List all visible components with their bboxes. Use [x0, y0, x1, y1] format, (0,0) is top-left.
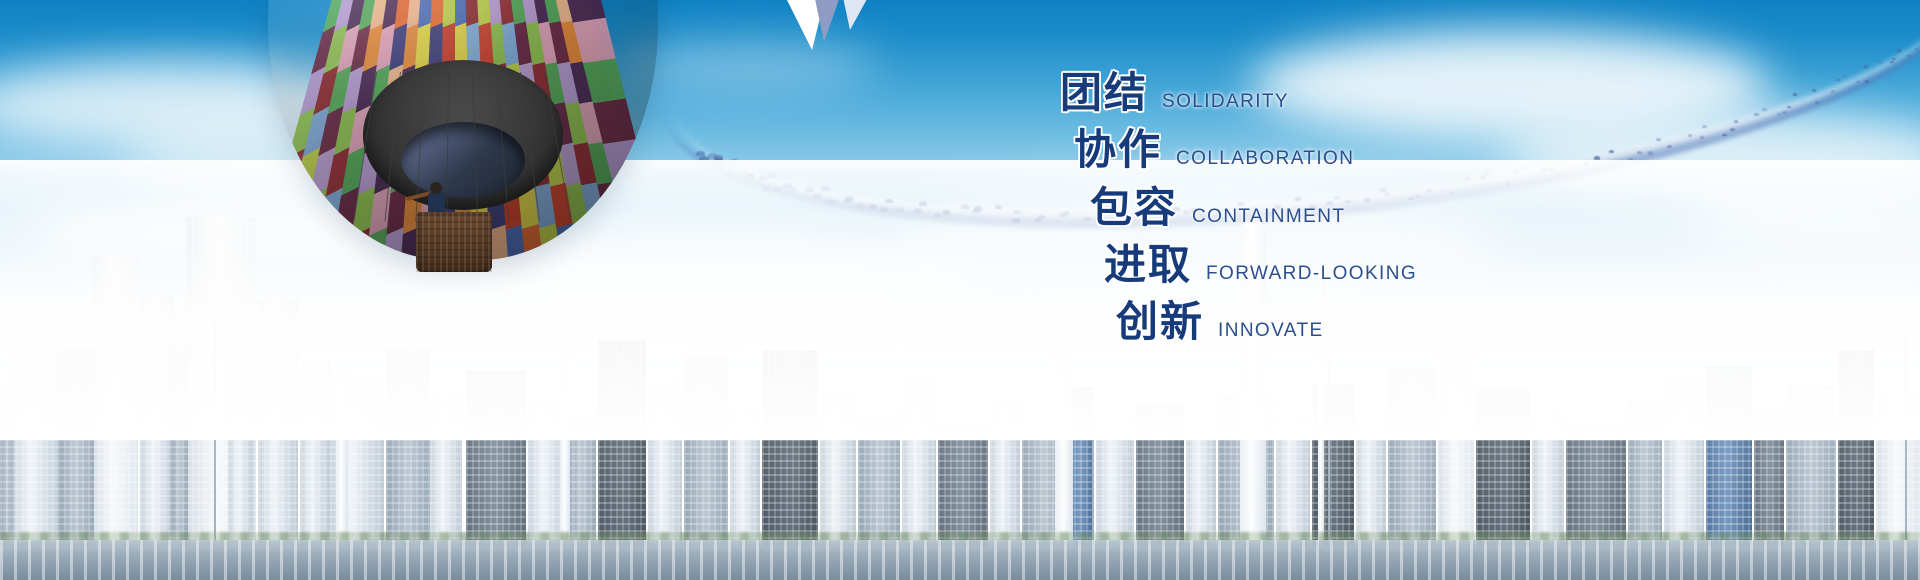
bird-icon: [1734, 120, 1739, 123]
hero-banner: 团结SOLIDARITY协作COLLABORATION包容CONTAINMENT…: [0, 0, 1920, 580]
slogan-chinese: 协作: [1074, 127, 1162, 172]
slogan-line: 包容CONTAINMENT: [1090, 185, 1620, 230]
bridge-pier: [0, 540, 1920, 580]
bird-icon: [1688, 134, 1693, 137]
bird-icon: [1722, 134, 1727, 137]
bird-icon: [1793, 93, 1797, 96]
slogan-chinese: 创新: [1116, 299, 1204, 344]
bird-icon: [1907, 55, 1911, 57]
bird-icon: [1702, 125, 1707, 128]
bird-icon: [1890, 61, 1894, 63]
bird-icon: [1915, 48, 1919, 50]
bird-icon: [1812, 89, 1816, 92]
slogan-line: 进取FORWARD-LOOKING: [1104, 242, 1620, 287]
balloon-basket: [416, 212, 492, 272]
bird-icon: [1878, 61, 1882, 63]
bird-icon: [1730, 128, 1735, 131]
bird-icon: [1865, 80, 1869, 82]
slogan-line: 协作COLLABORATION: [1074, 127, 1620, 172]
bird-icon: [1842, 75, 1846, 77]
building: [1186, 428, 1216, 546]
building: [938, 426, 988, 546]
bird-icon: [1782, 111, 1786, 114]
bird-icon: [1667, 145, 1672, 148]
slogan-list: 团结SOLIDARITY协作COLLABORATION包容CONTAINMENT…: [1060, 70, 1620, 357]
bird-icon: [1754, 113, 1759, 116]
bird-icon: [1892, 58, 1896, 60]
slogan-chinese: 团结: [1060, 70, 1148, 115]
bird-icon: [1897, 49, 1901, 51]
slogan-english: CONTAINMENT: [1192, 206, 1345, 228]
bird-icon: [1762, 108, 1767, 111]
bird-icon: [1815, 101, 1819, 104]
bird-icon: [1864, 65, 1868, 67]
hot-air-balloon: [268, 0, 658, 320]
bird-icon: [1656, 138, 1661, 141]
bird-icon: [1700, 136, 1705, 139]
plane-wing-right: [832, 0, 896, 30]
slogan-chinese: 包容: [1090, 185, 1178, 230]
slogan-english: INNOVATE: [1218, 320, 1324, 342]
bird-icon: [1777, 113, 1781, 116]
bird-icon: [1637, 151, 1642, 154]
slogan-chinese: 进取: [1104, 242, 1192, 287]
slogan-english: COLLABORATION: [1176, 148, 1354, 170]
paper-airplane-icon: [760, 0, 910, 56]
bird-icon: [1648, 151, 1653, 154]
slogan-line: 创新INNOVATE: [1116, 299, 1620, 344]
bird-icon: [1831, 90, 1835, 93]
building: [1356, 424, 1386, 546]
slogan-english: FORWARD-LOOKING: [1206, 263, 1417, 285]
bird-icon: [1787, 106, 1791, 109]
slogan-line: 团结SOLIDARITY: [1060, 70, 1620, 115]
slogan-english: SOLIDARITY: [1162, 91, 1289, 113]
bird-icon: [696, 151, 705, 157]
bird-icon: [1836, 79, 1840, 81]
building: [1566, 426, 1626, 546]
